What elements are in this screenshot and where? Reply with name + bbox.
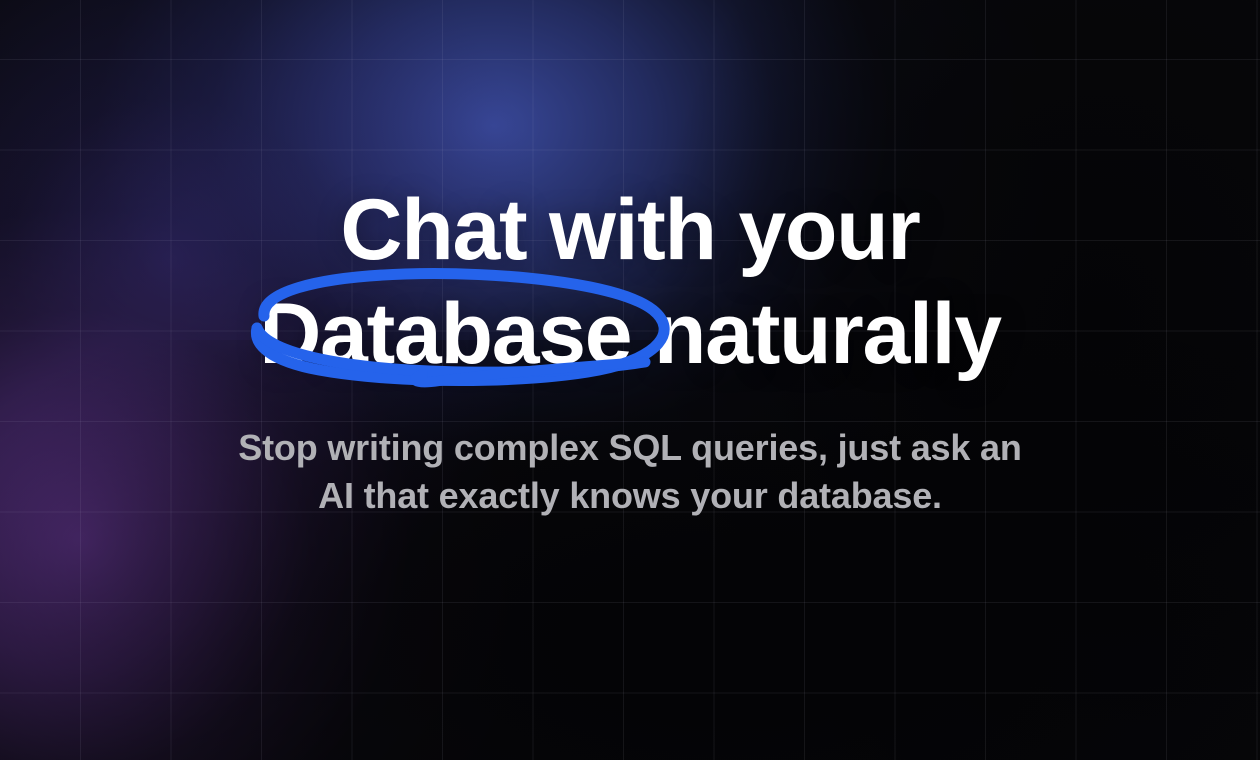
headline-line-2-suffix: naturally — [631, 286, 1000, 382]
headline-line-2: Database naturally — [0, 282, 1260, 386]
highlighted-word-text: Database — [259, 286, 631, 382]
page-title: Chat with your Database naturally — [0, 178, 1260, 386]
headline-line-1: Chat with your — [0, 178, 1260, 282]
hero-section: Chat with your Database naturally Stop w… — [0, 0, 1260, 760]
page-subtitle: Stop writing complex SQL queries, just a… — [238, 424, 1021, 520]
subtitle-line-2: AI that exactly knows your database. — [238, 472, 1021, 520]
highlighted-word-database: Database — [259, 282, 631, 386]
hero-content: Chat with your Database naturally Stop w… — [0, 0, 1260, 760]
subtitle-line-1: Stop writing complex SQL queries, just a… — [238, 424, 1021, 472]
